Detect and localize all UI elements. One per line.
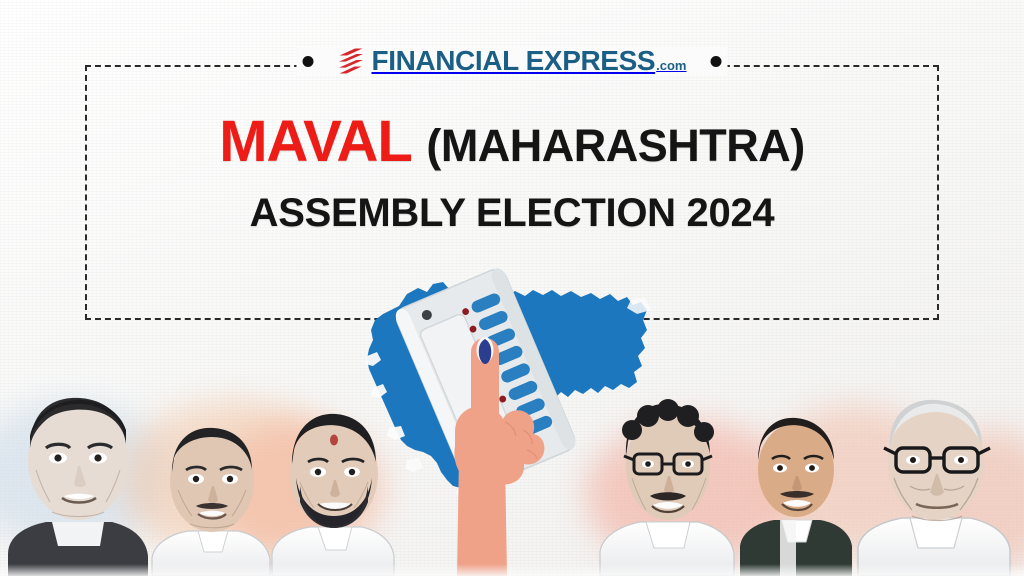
brand-name-text: FINANCIAL EXPRESS — [372, 47, 656, 75]
portrait-right-3 — [858, 400, 1010, 576]
constituency-name: MAVAL — [219, 109, 412, 174]
masthead: FINANCIAL EXPRESS.com — [297, 47, 728, 75]
brand-logo-link[interactable]: FINANCIAL EXPRESS.com — [328, 47, 697, 75]
portrait-left-2 — [152, 428, 270, 576]
headline-primary: MAVAL (MAHARASHTRA) — [85, 112, 939, 173]
brand-wordmark: FINANCIAL EXPRESS.com — [372, 47, 687, 75]
frame-edge-top-right — [704, 65, 939, 67]
state-name: (MAHARASHTRA) — [426, 120, 804, 171]
brand-suffix-text: .com — [656, 59, 686, 72]
portrait-right-2 — [740, 418, 852, 576]
financial-express-s-mark-icon — [338, 47, 364, 75]
politician-portrait-sketch-group-left — [0, 386, 400, 576]
central-artwork — [355, 260, 675, 576]
headline-block: MAVAL (MAHARASHTRA) ASSEMBLY ELECTION 20… — [85, 112, 939, 236]
bullet-dot-left-icon — [303, 56, 314, 67]
poster-canvas: FINANCIAL EXPRESS.com MAVAL (MAHARASHTRA… — [0, 0, 1024, 576]
frame-edge-top-left — [85, 65, 310, 67]
portrait-left-1 — [8, 398, 148, 576]
bullet-dot-right-icon — [710, 56, 721, 67]
headline-subtitle: ASSEMBLY ELECTION 2024 — [85, 191, 939, 236]
